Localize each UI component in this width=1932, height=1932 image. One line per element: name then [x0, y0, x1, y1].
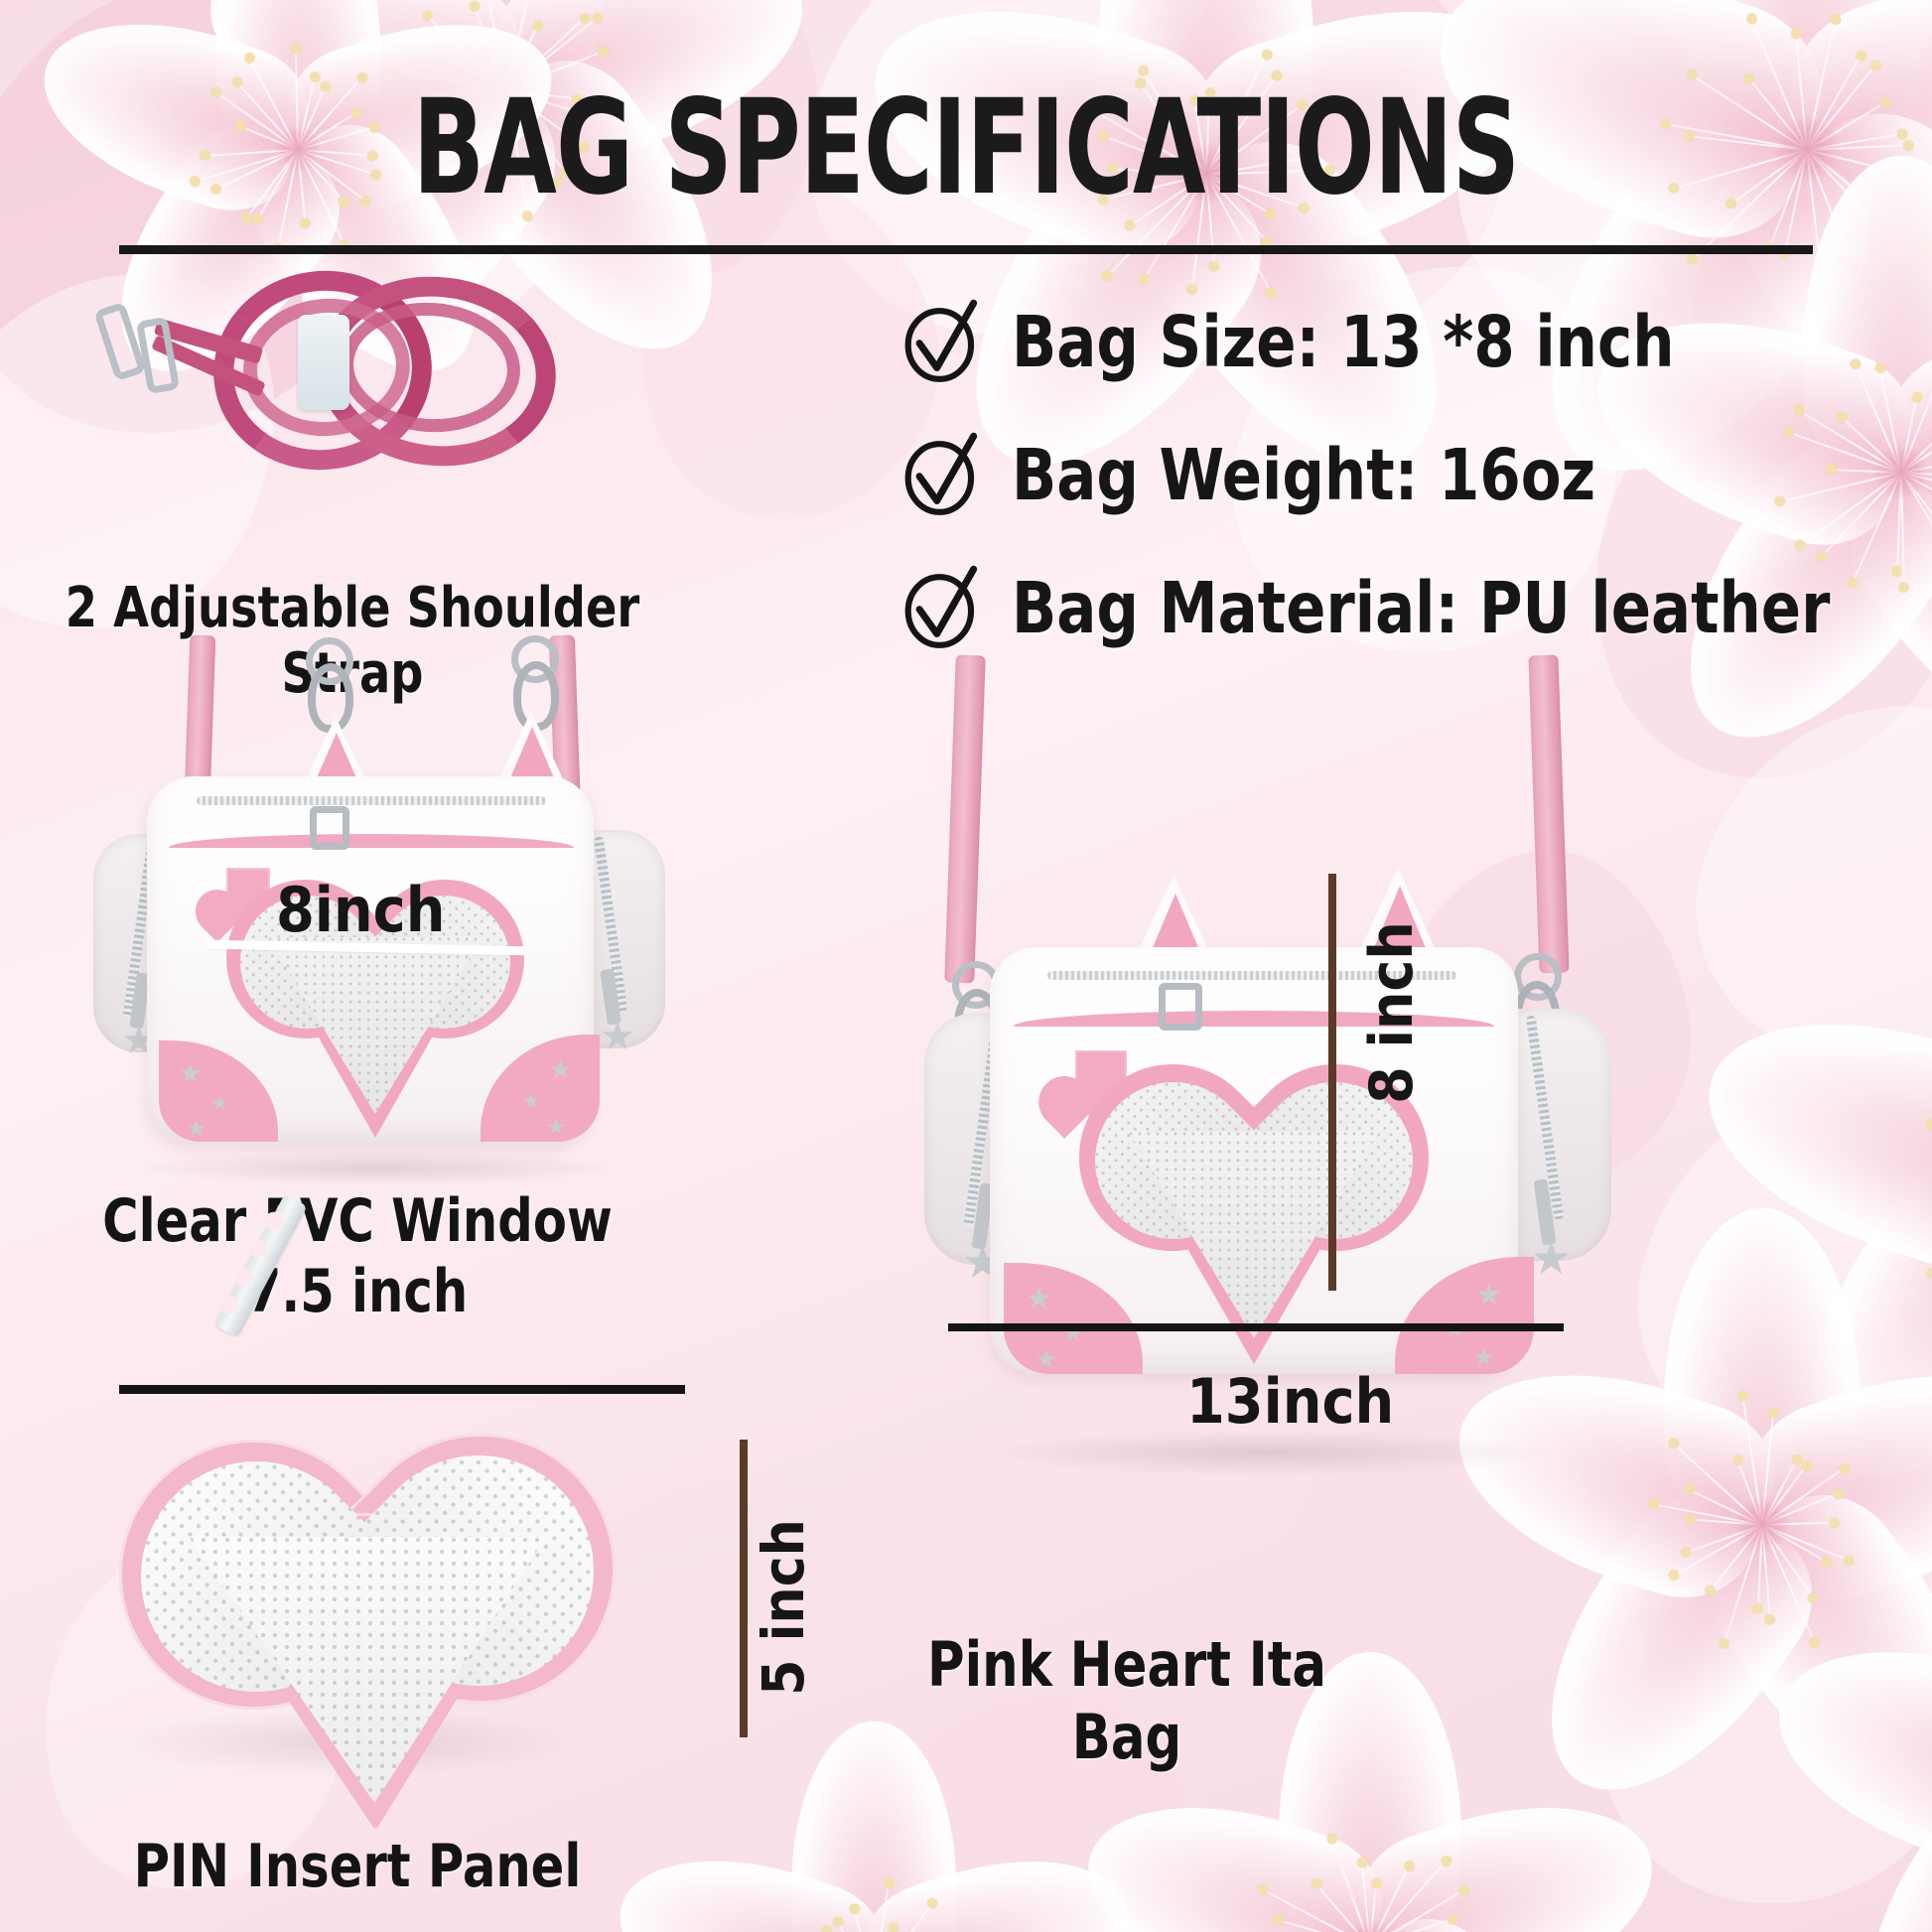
bag-specifications-poster: BAG SPECIFICATIONS Bag Size: 13 *8 inch …: [0, 0, 1932, 1932]
shoulder-strap-photo: [94, 263, 561, 452]
pin-insert-panel-image: [119, 1440, 616, 1837]
pvc-window-caption-line2: 7.5 inch: [66, 1257, 650, 1327]
spec-item-label: Bag Weight: 16oz: [1012, 434, 1595, 516]
spec-item-bag-material: Bag Material: PU leather: [898, 564, 1921, 651]
d-ring-icon: [1159, 983, 1202, 1031]
dimension-label-8inch: 8inch: [276, 874, 445, 946]
cherry-blossom-icon: [1866, 1588, 1932, 1932]
cherry-blossom-icon: [695, 1807, 1052, 1932]
pvc-window-caption-line1: Clear PVC Window: [66, 1186, 650, 1257]
spec-item-label: Bag Size: 13 *8 inch: [1012, 301, 1674, 383]
cherry-blossom-icon: [1172, 1747, 1569, 1932]
d-ring-icon: [310, 806, 349, 850]
dimension-label-8inch-vertical: 8 inch: [1357, 921, 1427, 1104]
check-circle-icon: [898, 431, 986, 518]
strap-hook-icon: [308, 663, 353, 733]
pin-panel-caption: PIN Insert Panel: [66, 1832, 650, 1902]
spec-item-bag-size: Bag Size: 13 *8 inch: [898, 298, 1921, 385]
spec-list: Bag Size: 13 *8 inch Bag Weight: 16oz Ba…: [898, 298, 1921, 697]
measure-line-8inch-vertical: [1328, 874, 1336, 1291]
page-title: BAG SPECIFICATIONS: [194, 71, 1739, 224]
spec-item-label: Bag Material: PU leather: [1012, 567, 1830, 649]
check-circle-icon: [898, 298, 986, 385]
measure-line-5inch: [740, 1440, 748, 1737]
main-bag-caption-line2: Bag: [825, 1701, 1428, 1773]
title-divider: [119, 245, 1813, 254]
dimension-label-5inch: 5 inch: [750, 1519, 817, 1696]
dimension-label-13inch: 13inch: [1186, 1365, 1394, 1438]
strap-velcro-band: [298, 315, 349, 410]
pvc-window-caption: Clear PVC Window 7.5 inch: [66, 1186, 650, 1327]
measure-line-13inch: [948, 1323, 1564, 1331]
main-bag-caption: Pink Heart Ita Bag: [825, 1628, 1428, 1773]
pvc-window-bag-image: ★ ★ ★ ★ ★ ★ ★ ★ ★ ✦ 8inch: [99, 645, 655, 1181]
check-circle-icon: [898, 564, 986, 651]
spec-item-bag-weight: Bag Weight: 16oz: [898, 431, 1921, 518]
pin-panel-divider: [119, 1385, 685, 1394]
strap-hook-icon: [513, 661, 559, 731]
main-bag-caption-line1: Pink Heart Ita: [825, 1628, 1428, 1701]
